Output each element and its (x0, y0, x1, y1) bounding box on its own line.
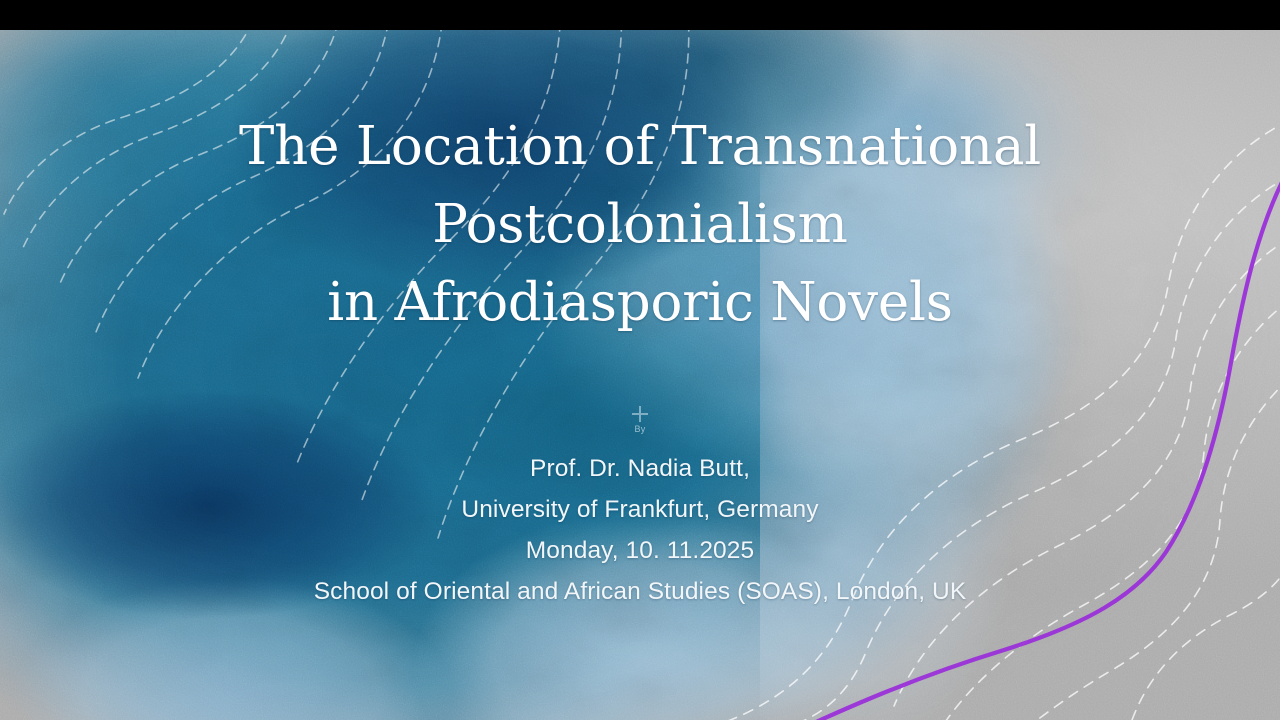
subtitle-venue: School of Oriental and African Studies (… (0, 571, 1280, 612)
byline-marker: By (0, 406, 1280, 434)
subtitle-date: Monday, 10. 11.2025 (0, 530, 1280, 571)
title-line-1: The Location of Transnational (140, 108, 1140, 186)
crosshair-icon (632, 406, 648, 422)
subtitle-affiliation: University of Frankfurt, Germany (0, 489, 1280, 530)
slide-content: The Location of Transnational Postcoloni… (0, 0, 1280, 720)
letterbox-bar-top (0, 0, 1280, 30)
title-slide: The Location of Transnational Postcoloni… (0, 0, 1280, 720)
page-title: The Location of Transnational Postcoloni… (140, 108, 1140, 342)
subtitle-block: Prof. Dr. Nadia Butt, University of Fran… (0, 448, 1280, 612)
title-line-3: in Afrodiasporic Novels (140, 264, 1140, 342)
by-label: By (0, 424, 1280, 434)
subtitle-presenter: Prof. Dr. Nadia Butt, (0, 448, 1280, 489)
title-line-2: Postcolonialism (140, 186, 1140, 264)
